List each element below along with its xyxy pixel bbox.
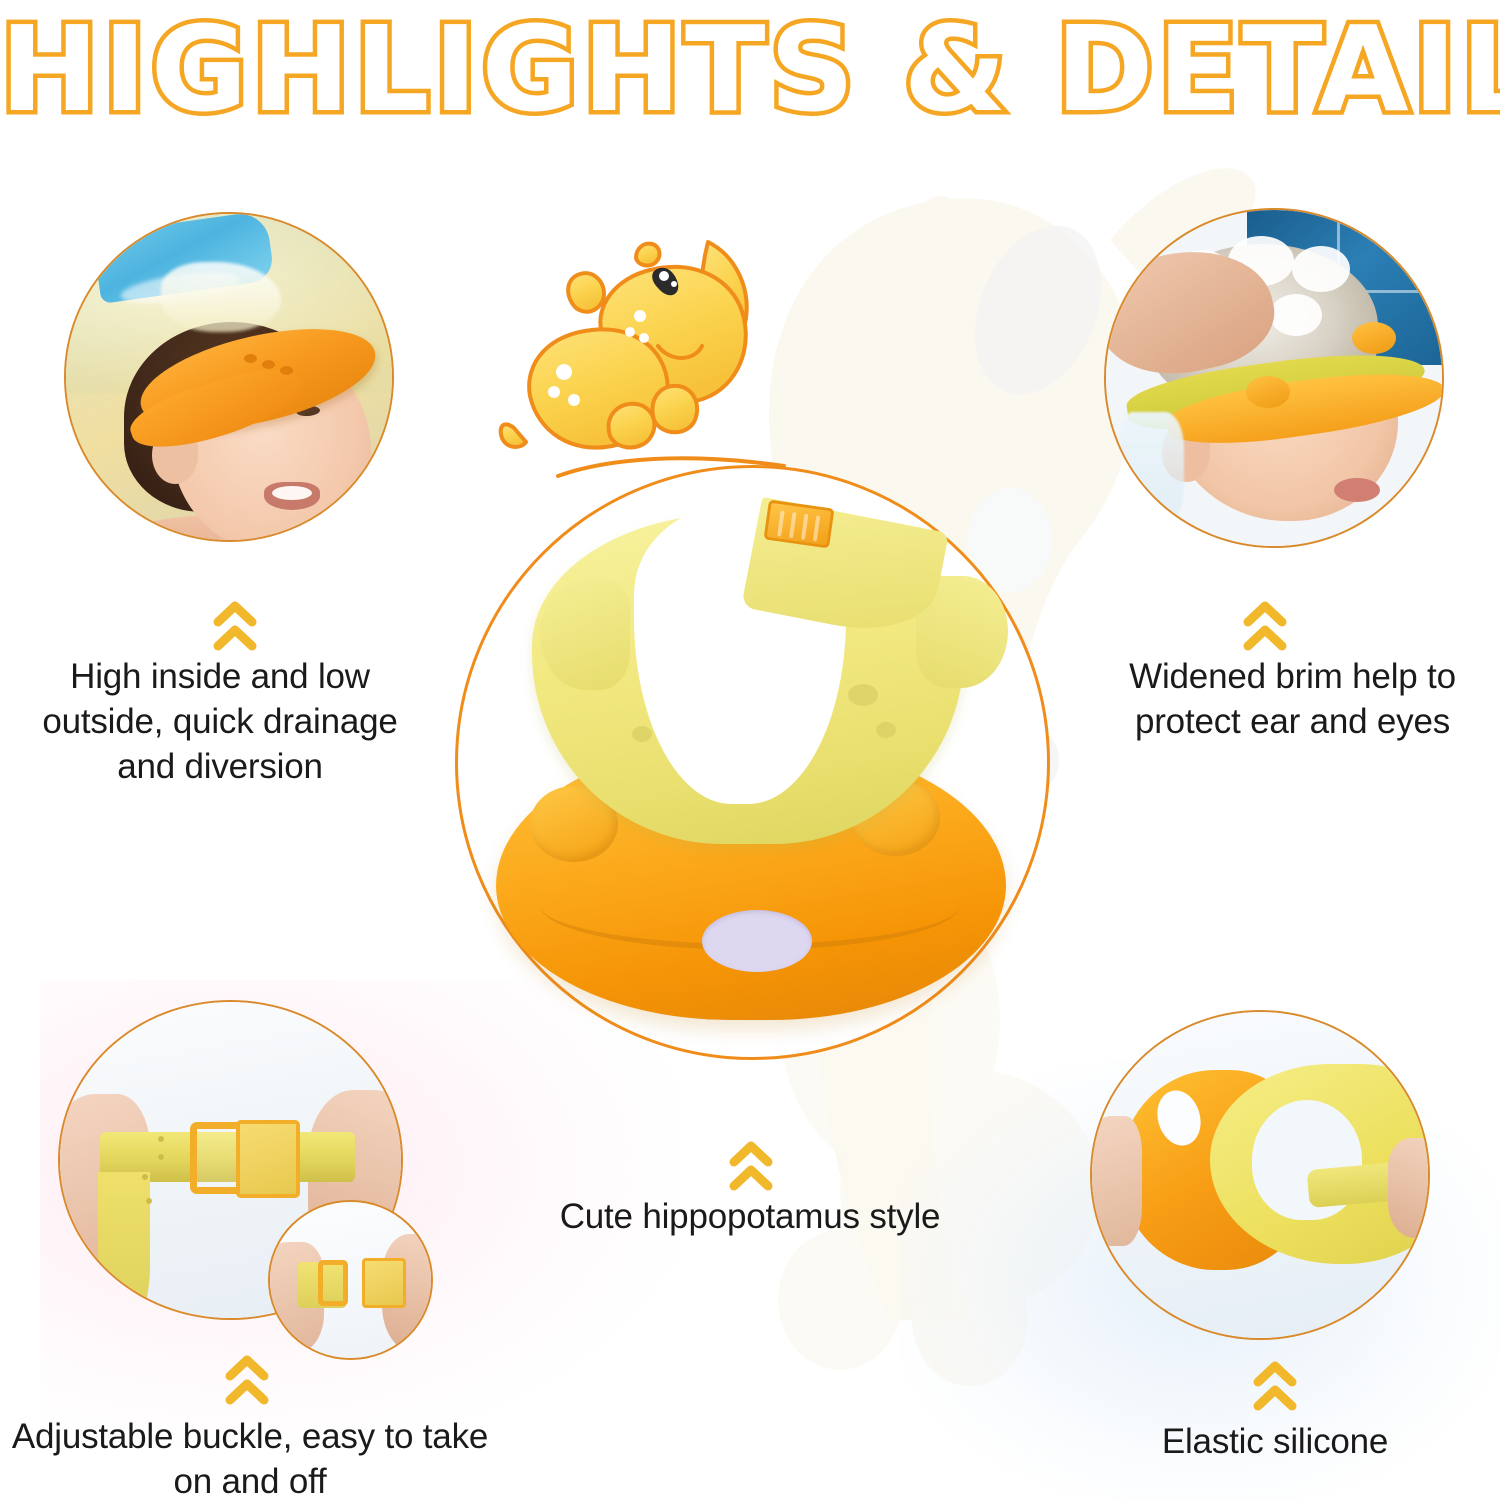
- photo-buckle-closeup: [270, 1202, 431, 1358]
- photo-hands-stretching-cap: [1092, 1012, 1428, 1338]
- feature-caption-high-inside-low-outside: High inside and low outside, quick drain…: [10, 655, 430, 789]
- double-chevron-up-icon-high-inside: [206, 598, 264, 654]
- page-title-text: HIGHLIGHTS & DETAILS: [0, 6, 1500, 133]
- feature-photo-widened-brim: [1104, 208, 1444, 548]
- double-chevron-up-icon-hippo-style: [722, 1138, 780, 1194]
- double-chevron-up-icon-widened-brim: [1236, 598, 1294, 654]
- product-nose-patch: [702, 910, 812, 972]
- feature-caption-elastic-silicone: Elastic silicone: [1075, 1420, 1475, 1465]
- feature-caption-widened-brim: Widened brim help to protect ear and eye…: [1095, 655, 1490, 745]
- feature-photo-elastic-silicone: [1090, 1010, 1430, 1340]
- product-shower-cap: [470, 490, 1035, 1035]
- feature-photo-high-inside-low-outside: [64, 212, 394, 542]
- infographic-canvas: HIGHLIGHTS & DETAILS: [0, 0, 1500, 1500]
- photo-baby-wearing-orange-visor: [66, 214, 392, 540]
- product-ear-left: [540, 580, 630, 690]
- feature-caption-adjustable-buckle: Adjustable buckle, easy to take on and o…: [10, 1415, 490, 1505]
- buckle-detail-inset: [268, 1200, 433, 1360]
- photo-child-hair-washing: [1106, 210, 1442, 546]
- double-chevron-up-icon-elastic-silicone: [1246, 1358, 1304, 1414]
- page-title: HIGHLIGHTS & DETAILS: [0, 6, 1500, 133]
- double-chevron-up-icon-adjustable-buckle: [218, 1352, 276, 1408]
- rhino-mascot-icon: [498, 222, 788, 484]
- feature-caption-hippopotamus-style: Cute hippopotamus style: [440, 1195, 1060, 1240]
